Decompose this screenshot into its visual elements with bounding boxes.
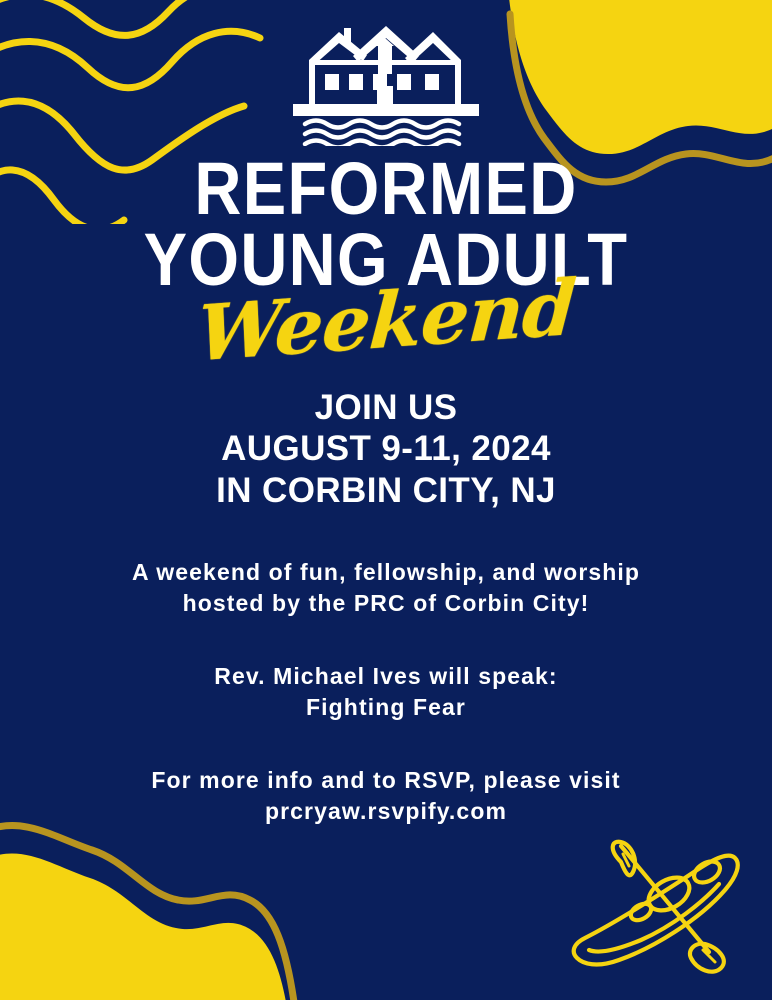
house-on-water-icon	[281, 24, 491, 146]
event-detail-join-us: JOIN US	[0, 387, 772, 428]
rsvp-website-link[interactable]: prcryaw.rsvpify.com	[0, 796, 772, 827]
description-line-2: hosted by the PRC of Corbin City!	[0, 588, 772, 619]
speaker-topic-line: Fighting Fear	[0, 692, 772, 723]
rsvp-instruction-line: For more info and to RSVP, please visit	[0, 765, 772, 796]
rsvp-block: For more info and to RSVP, please visit …	[0, 765, 772, 827]
description-block: A weekend of fun, fellowship, and worshi…	[0, 557, 772, 619]
event-detail-date: AUGUST 9-11, 2024	[0, 428, 772, 469]
speaker-name-line: Rev. Michael Ives will speak:	[0, 661, 772, 692]
kayak-illustration	[569, 832, 754, 982]
yellow-blob-decoration	[0, 802, 328, 1000]
poster-content: REFORMED YOUNG ADULT Weekend JOIN US AUG…	[0, 156, 772, 827]
event-details-block: JOIN US AUGUST 9-11, 2024 IN CORBIN CITY…	[0, 387, 772, 511]
poster-canvas: REFORMED YOUNG ADULT Weekend JOIN US AUG…	[0, 0, 772, 1000]
event-detail-location: IN CORBIN CITY, NJ	[0, 470, 772, 511]
description-line-1: A weekend of fun, fellowship, and worshi…	[0, 557, 772, 588]
headline-line-1: REFORMED	[46, 156, 725, 223]
speaker-block: Rev. Michael Ives will speak: Fighting F…	[0, 661, 772, 723]
headline-block: REFORMED YOUNG ADULT Weekend	[0, 156, 772, 359]
